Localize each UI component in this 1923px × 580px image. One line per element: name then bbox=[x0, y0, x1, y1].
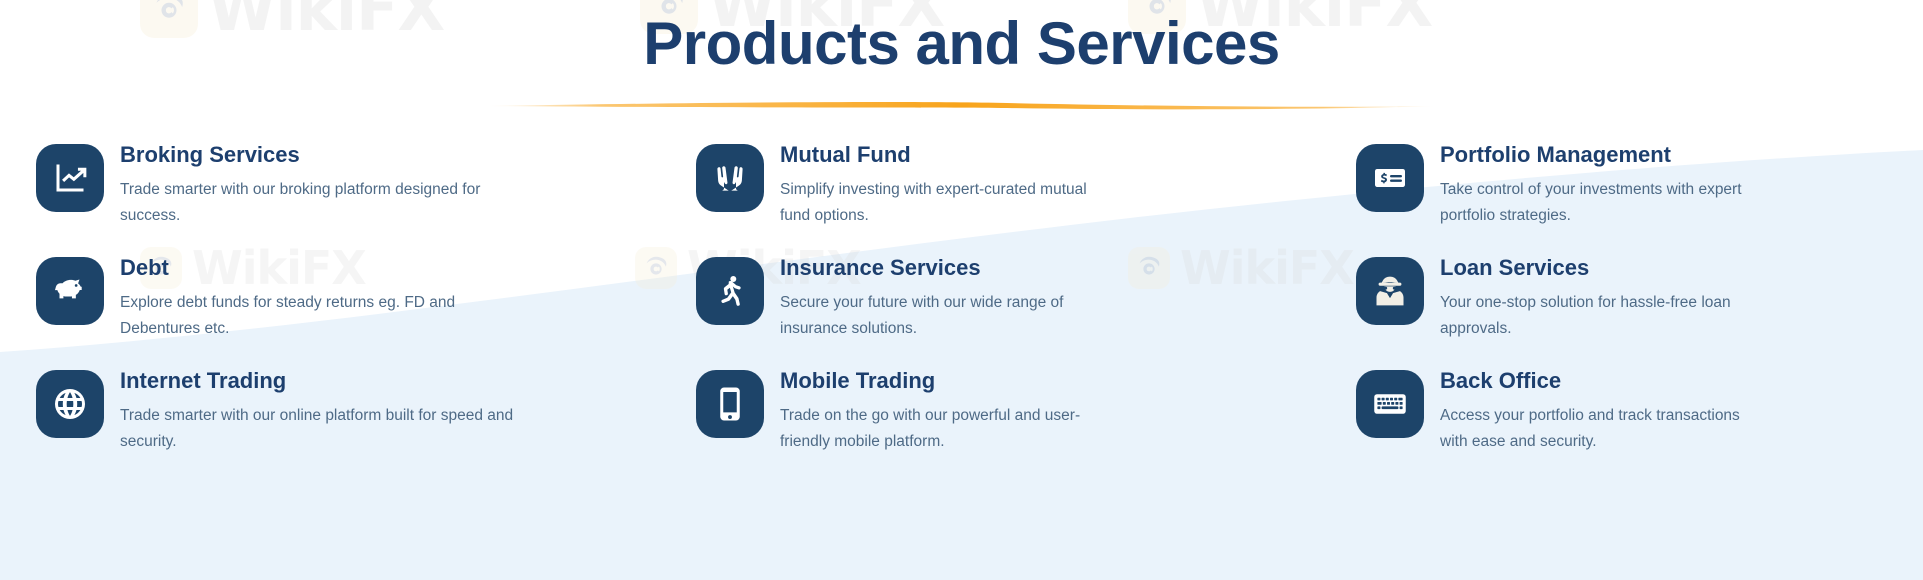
service-card-mobile-trading[interactable]: Mobile Trading Trade on the go with our … bbox=[696, 366, 1356, 479]
orange-divider-icon bbox=[487, 101, 1437, 110]
service-title: Insurance Services bbox=[780, 255, 1090, 281]
service-title: Loan Services bbox=[1440, 255, 1760, 281]
service-description: Explore debt funds for steady returns eg… bbox=[120, 290, 520, 340]
service-title: Mutual Fund bbox=[780, 142, 1090, 168]
money-cheque-icon bbox=[1356, 144, 1424, 212]
service-card-debt[interactable]: Debt Explore debt funds for steady retur… bbox=[36, 253, 696, 366]
service-description: Take control of your investments with ex… bbox=[1440, 177, 1760, 227]
service-title: Internet Trading bbox=[120, 368, 520, 394]
service-description: Trade smarter with our online platform b… bbox=[120, 403, 520, 453]
services-column-1: Broking Services Trade smarter with our … bbox=[36, 140, 696, 479]
service-card-body: Broking Services Trade smarter with our … bbox=[120, 140, 520, 228]
title-divider-wrap bbox=[0, 101, 1923, 110]
service-card-body: Internet Trading Trade smarter with our … bbox=[120, 366, 520, 454]
service-card-portfolio-management[interactable]: Portfolio Management Take control of you… bbox=[1356, 140, 1923, 253]
service-title: Portfolio Management bbox=[1440, 142, 1760, 168]
services-column-2: Mutual Fund Simplify investing with expe… bbox=[696, 140, 1356, 479]
section-header: Products and Services bbox=[0, 0, 1923, 110]
detective-agent-icon bbox=[1356, 257, 1424, 325]
service-description: Trade smarter with our broking platform … bbox=[120, 177, 520, 227]
service-card-back-office[interactable]: Back Office Access your portfolio and tr… bbox=[1356, 366, 1923, 479]
page-title: Products and Services bbox=[0, 12, 1923, 75]
service-description: Simplify investing with expert-curated m… bbox=[780, 177, 1090, 227]
service-title: Debt bbox=[120, 255, 520, 281]
globe-icon bbox=[36, 370, 104, 438]
open-hands-icon bbox=[696, 144, 764, 212]
service-title: Back Office bbox=[1440, 368, 1760, 394]
service-card-body: Loan Services Your one-stop solution for… bbox=[1440, 253, 1760, 341]
keyboard-icon bbox=[1356, 370, 1424, 438]
service-description: Your one-stop solution for hassle-free l… bbox=[1440, 290, 1760, 340]
mobile-phone-icon bbox=[696, 370, 764, 438]
service-card-mutual-fund[interactable]: Mutual Fund Simplify investing with expe… bbox=[696, 140, 1356, 253]
service-card-body: Debt Explore debt funds for steady retur… bbox=[120, 253, 520, 341]
service-title: Broking Services bbox=[120, 142, 520, 168]
service-card-insurance-services[interactable]: Insurance Services Secure your future wi… bbox=[696, 253, 1356, 366]
piggy-bank-icon bbox=[36, 257, 104, 325]
service-card-loan-services[interactable]: Loan Services Your one-stop solution for… bbox=[1356, 253, 1923, 366]
service-description: Trade on the go with our powerful and us… bbox=[780, 403, 1090, 453]
service-card-body: Mobile Trading Trade on the go with our … bbox=[780, 366, 1090, 454]
service-card-body: Portfolio Management Take control of you… bbox=[1440, 140, 1760, 228]
chart-line-up-icon bbox=[36, 144, 104, 212]
service-description: Secure your future with our wide range o… bbox=[780, 290, 1090, 340]
service-card-body: Insurance Services Secure your future wi… bbox=[780, 253, 1090, 341]
service-card-broking-services[interactable]: Broking Services Trade smarter with our … bbox=[36, 140, 696, 253]
service-card-body: Back Office Access your portfolio and tr… bbox=[1440, 366, 1760, 454]
running-person-icon bbox=[696, 257, 764, 325]
services-column-3: Portfolio Management Take control of you… bbox=[1356, 140, 1923, 479]
services-grid: Broking Services Trade smarter with our … bbox=[0, 140, 1923, 479]
service-description: Access your portfolio and track transact… bbox=[1440, 403, 1760, 453]
service-card-internet-trading[interactable]: Internet Trading Trade smarter with our … bbox=[36, 366, 696, 479]
service-card-body: Mutual Fund Simplify investing with expe… bbox=[780, 140, 1090, 228]
service-title: Mobile Trading bbox=[780, 368, 1090, 394]
